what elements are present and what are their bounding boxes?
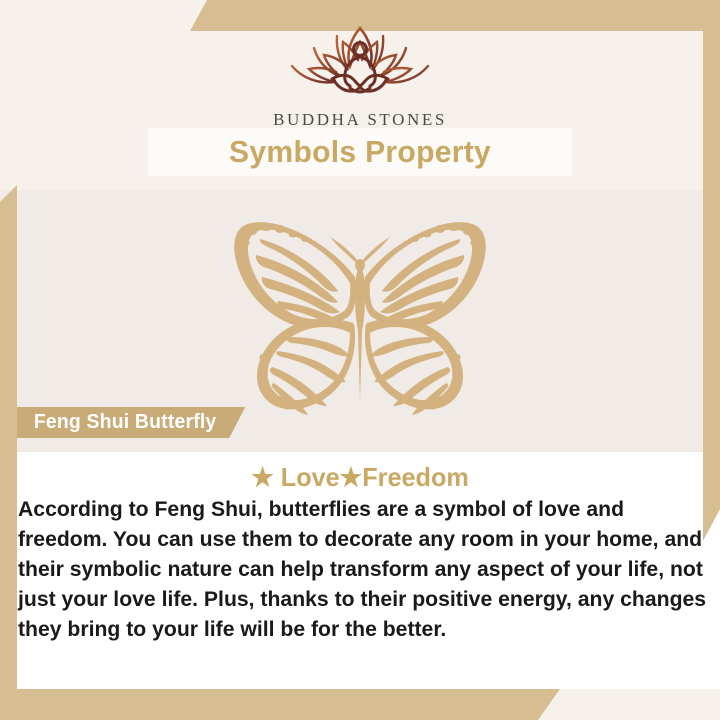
butterfly-icon [200, 205, 520, 415]
feature-tab-label: Feng Shui Butterfly [34, 411, 217, 434]
section-title-banner: Symbols Property [148, 128, 572, 176]
feature-tab: Feng Shui Butterfly [17, 407, 245, 438]
page-title: Symbols Property [229, 134, 491, 170]
butterfly-illustration [0, 205, 720, 420]
content-body: According to Feng Shui, butterflies are … [18, 494, 708, 644]
brand-name: BUDDHA STONES [0, 110, 720, 130]
frame-bottom-bar [0, 689, 560, 720]
content-subtitle: ★ Love★Freedom [11, 462, 709, 493]
lotus-meditation-icon [280, 22, 440, 104]
brand-logo: BUDDHA STONES [0, 22, 720, 130]
infographic-page: BUDDHA STONES Symbols Property [0, 0, 720, 720]
